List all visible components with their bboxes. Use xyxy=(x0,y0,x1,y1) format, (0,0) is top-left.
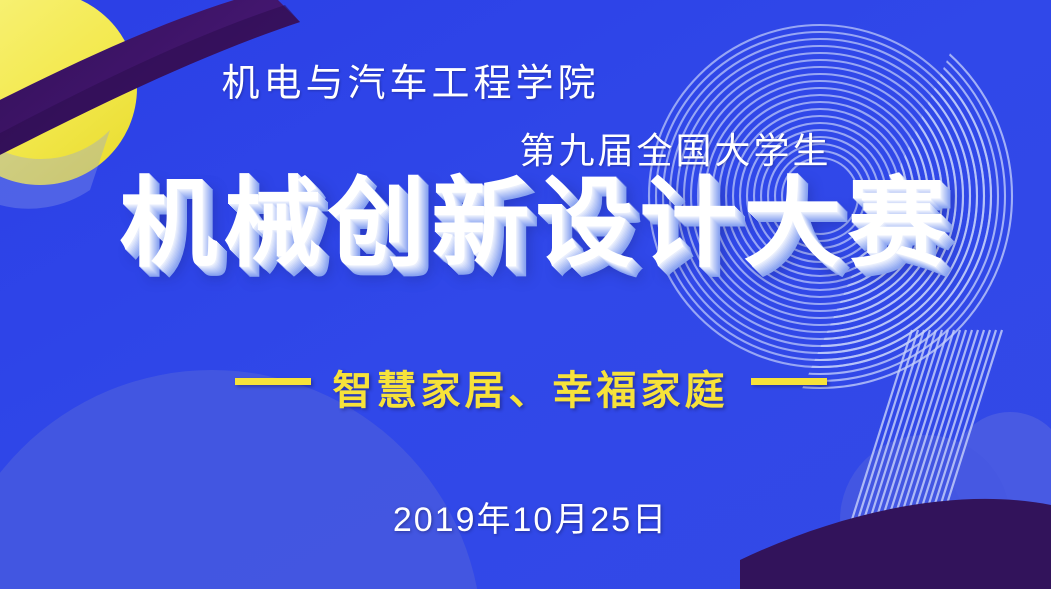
poster-content: 机电与汽车工程学院 第九届全国大学生 机械创新设计大赛 智慧家居、幸福家庭 20… xyxy=(0,0,1051,589)
slogan-text: 智慧家居、幸福家庭 xyxy=(333,369,729,413)
edition-label: 第九届全国大学生 xyxy=(0,122,1051,174)
event-poster: 机电与汽车工程学院 第九届全国大学生 机械创新设计大赛 智慧家居、幸福家庭 20… xyxy=(0,0,1051,589)
slogan-row: 智慧家居、幸福家庭 xyxy=(0,358,1051,416)
organization-name: 机电与汽车工程学院 xyxy=(0,52,1051,107)
slogan-rule-left xyxy=(235,378,311,385)
slogan-rule-right xyxy=(751,378,827,385)
poster-title: 机械创新设计大赛 xyxy=(0,168,1051,278)
event-date: 2019年10月25日 xyxy=(0,492,1051,541)
